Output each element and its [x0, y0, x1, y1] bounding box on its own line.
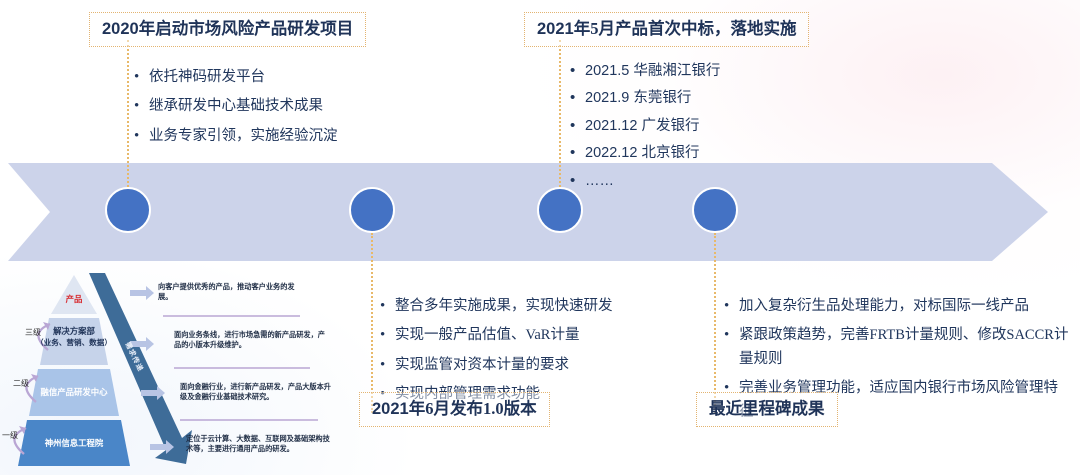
callout-launch-text: 年启动市场风险产品研发项目: [139, 19, 354, 38]
callout-release-v1-title: 2021年6月发布1.0版本: [359, 392, 550, 427]
callout-launch-title: 2020年启动市场风险产品研发项目: [89, 12, 366, 47]
callout-recent-text: 最近里程碑成果: [709, 399, 825, 418]
pyramid-diagram: 需求传递 产品 解决方案部 （业务、营销、数据） 融信产品研发中心 神州信息工程…: [0, 268, 345, 475]
list-item: 2021.9 东莞银行: [568, 87, 828, 110]
callout-launch-year: 2020: [102, 20, 139, 38]
pyramid-description-solution: 面向业务条线，进行市场急需的新产品研发，产品的小版本升级维护。: [174, 330, 326, 351]
list-item: 整合多年实施成果，实现快速研发: [378, 295, 678, 318]
pyramid-level-mark-1: 一级: [2, 430, 18, 441]
connector-release-v1: [371, 233, 373, 413]
pyramid-level-mark-3: 三级: [25, 327, 41, 338]
slide-canvas: 2020年启动市场风险产品研发项目 依托神码研发平台 继承研发中心基础技术成果 …: [0, 0, 1080, 475]
list-item: 实现一般产品估值、VaR计量: [378, 324, 678, 347]
list-item: 紧跟政策趋势，完善FRTB计量规则、修改SACCR计量规则: [722, 324, 1070, 371]
connector-launch: [127, 40, 129, 187]
timeline-arrow-shape: [8, 163, 1048, 261]
pyramid-tier-label-solution-sub: （业务、营销、数据）: [31, 338, 117, 348]
pyramid-description-institute: 定位于云计算、大数据、互联网及基础架构技术等，主要进行通用产品的研发。: [186, 434, 336, 455]
callout-release-v1-text: 年6月发布1.0版本: [409, 399, 537, 418]
callout-first-bid-title: 2021年5月产品首次中标，落地实施: [524, 12, 809, 47]
pyramid-tier-label-solution: 解决方案部: [41, 326, 107, 337]
first-bid-bullet-list: 2021.5 华融湘江银行 2021.9 东莞银行 2021.12 广发银行 2…: [568, 60, 828, 197]
callout-release-v1-year: 2021: [372, 400, 409, 418]
launch-bullet-list: 依托神码研发平台 继承研发中心基础技术成果 业务专家引领，实施经验沉淀: [132, 66, 402, 154]
pyramid-tier-label-institute: 神州信息工程院: [28, 438, 120, 449]
milestone-dot-2[interactable]: [349, 187, 395, 233]
list-item: 2021.5 华融湘江银行: [568, 60, 828, 83]
list-item: 依托神码研发平台: [132, 66, 402, 89]
callout-first-bid-year: 2021: [537, 20, 574, 38]
pyramid-tier-label-rnd-center: 融信产品研发中心: [28, 387, 120, 398]
pyramid-tier-label-product: 产品: [52, 294, 96, 305]
list-item: 实现监管对资本计量的要求: [378, 354, 678, 377]
pyramid-level-mark-2: 二级: [13, 378, 29, 389]
pyramid-description-rnd-center: 面向金融行业，进行新产品研发，产品大版本升级及金融行业基础技术研究。: [180, 382, 338, 403]
list-item: 2021.12 广发银行: [568, 115, 828, 138]
list-item: 2022.12 北京银行: [568, 142, 828, 165]
connector-recent: [714, 233, 716, 413]
list-item: 业务专家引领，实施经验沉淀: [132, 125, 402, 148]
list-item: 继承研发中心基础技术成果: [132, 95, 402, 118]
milestone-dot-1[interactable]: [105, 187, 151, 233]
pyramid-description-product: 向客户提供优秀的产品，推动客户业务的发展。: [158, 282, 298, 303]
list-item: 加入复杂衍生品处理能力，对标国际一线产品: [722, 295, 1070, 318]
connector-first-bid: [559, 40, 561, 187]
callout-recent-title: 最近里程碑成果: [696, 392, 838, 427]
list-item: ……: [568, 170, 828, 193]
callout-first-bid-text: 年5月产品首次中标，落地实施: [574, 19, 797, 38]
